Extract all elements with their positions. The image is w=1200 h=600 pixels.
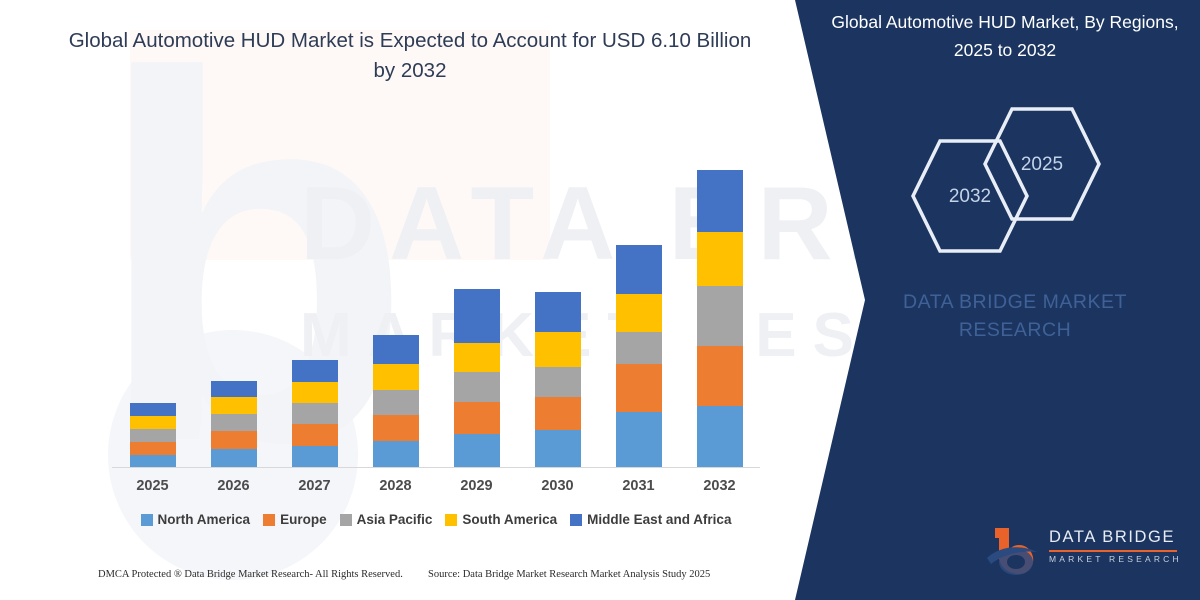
- bar-2026[interactable]: [211, 381, 257, 468]
- x-tick-2031: 2031: [599, 478, 679, 494]
- x-tick-2029: 2029: [437, 478, 517, 494]
- logo-name-sub: MARKET RESEARCH: [1049, 554, 1182, 564]
- segment-middle-east-and-africa-2028[interactable]: [373, 335, 419, 364]
- bar-2030[interactable]: [535, 292, 581, 468]
- segment-europe-2025[interactable]: [130, 442, 176, 455]
- segment-asia-pacific-2025[interactable]: [130, 429, 176, 442]
- segment-europe-2032[interactable]: [697, 346, 743, 406]
- segment-asia-pacific-2027[interactable]: [292, 403, 338, 424]
- segment-south-america-2030[interactable]: [535, 332, 581, 367]
- segment-europe-2028[interactable]: [373, 415, 419, 441]
- bar-2031[interactable]: [616, 245, 662, 468]
- bar-2029[interactable]: [454, 289, 500, 468]
- segment-north-america-2032[interactable]: [697, 406, 743, 468]
- segment-north-america-2028[interactable]: [373, 441, 419, 468]
- legend-label: North America: [158, 512, 251, 527]
- segment-south-america-2026[interactable]: [211, 397, 257, 414]
- legend-swatch-icon: [263, 514, 275, 526]
- logo-divider: [1049, 550, 1177, 552]
- logo-b-mark-icon: [985, 524, 1045, 580]
- right-info-panel: Global Automotive HUD Market, By Regions…: [760, 0, 1200, 600]
- segment-north-america-2029[interactable]: [454, 434, 500, 468]
- right-panel-title: Global Automotive HUD Market, By Regions…: [830, 8, 1180, 64]
- x-tick-2028: 2028: [356, 478, 436, 494]
- hexagon-group: 2025 2032: [910, 110, 1110, 230]
- legend-item-europe[interactable]: Europe: [263, 512, 327, 527]
- footer-copyright: DMCA Protected ® Data Bridge Market Rese…: [98, 569, 403, 580]
- segment-north-america-2031[interactable]: [616, 412, 662, 468]
- bar-2028[interactable]: [373, 335, 419, 468]
- segment-europe-2029[interactable]: [454, 402, 500, 434]
- x-axis-tick-labels: 20252026202720282029203020312032: [112, 476, 760, 502]
- hexagon-label-2025: 2025: [982, 154, 1102, 176]
- logo-name-main: DATA BRIDGE: [1049, 528, 1175, 547]
- page-title: Global Automotive HUD Market is Expected…: [60, 26, 760, 86]
- bar-2032[interactable]: [697, 170, 743, 468]
- segment-middle-east-and-africa-2025[interactable]: [130, 403, 176, 416]
- chart-panel: Global Automotive HUD Market is Expected…: [0, 0, 800, 600]
- brand-watermark-text: DATA BRIDGE MARKET RESEARCH: [870, 288, 1160, 344]
- legend-swatch-icon: [445, 514, 457, 526]
- segment-europe-2027[interactable]: [292, 424, 338, 446]
- segment-south-america-2032[interactable]: [697, 232, 743, 286]
- segment-middle-east-and-africa-2032[interactable]: [697, 170, 743, 232]
- x-axis-line: [112, 467, 760, 468]
- stacked-bar-plot: [112, 130, 760, 468]
- segment-north-america-2027[interactable]: [292, 446, 338, 468]
- hexagon-label-2032: 2032: [910, 186, 1030, 208]
- x-tick-2027: 2027: [275, 478, 355, 494]
- x-tick-2026: 2026: [194, 478, 274, 494]
- x-tick-2025: 2025: [113, 478, 193, 494]
- x-tick-2032: 2032: [680, 478, 760, 494]
- bar-2027[interactable]: [292, 360, 338, 468]
- chart-legend: North AmericaEuropeAsia PacificSouth Ame…: [112, 512, 760, 527]
- segment-middle-east-and-africa-2027[interactable]: [292, 360, 338, 382]
- segment-south-america-2031[interactable]: [616, 294, 662, 332]
- segment-middle-east-and-africa-2029[interactable]: [454, 289, 500, 343]
- data-bridge-logo: DATA BRIDGE MARKET RESEARCH: [985, 520, 1185, 582]
- segment-north-america-2026[interactable]: [211, 449, 257, 468]
- segment-middle-east-and-africa-2030[interactable]: [535, 292, 581, 332]
- segment-middle-east-and-africa-2031[interactable]: [616, 245, 662, 294]
- legend-swatch-icon: [340, 514, 352, 526]
- legend-swatch-icon: [141, 514, 153, 526]
- segment-south-america-2028[interactable]: [373, 364, 419, 390]
- segment-europe-2031[interactable]: [616, 364, 662, 412]
- legend-swatch-icon: [570, 514, 582, 526]
- footer-source: Source: Data Bridge Market Research Mark…: [428, 569, 710, 580]
- segment-north-america-2030[interactable]: [535, 430, 581, 468]
- legend-item-asia-pacific[interactable]: Asia Pacific: [340, 512, 433, 527]
- segment-asia-pacific-2031[interactable]: [616, 332, 662, 364]
- x-tick-2030: 2030: [518, 478, 598, 494]
- segment-europe-2030[interactable]: [535, 397, 581, 430]
- legend-label: South America: [462, 512, 557, 527]
- segment-asia-pacific-2028[interactable]: [373, 390, 419, 415]
- legend-item-north-america[interactable]: North America: [141, 512, 251, 527]
- segment-asia-pacific-2026[interactable]: [211, 414, 257, 431]
- segment-south-america-2027[interactable]: [292, 382, 338, 403]
- segment-south-america-2029[interactable]: [454, 343, 500, 372]
- segment-south-america-2025[interactable]: [130, 416, 176, 429]
- legend-label: Asia Pacific: [357, 512, 433, 527]
- segment-asia-pacific-2029[interactable]: [454, 372, 500, 402]
- segment-asia-pacific-2030[interactable]: [535, 367, 581, 397]
- segment-asia-pacific-2032[interactable]: [697, 286, 743, 346]
- legend-item-south-america[interactable]: South America: [445, 512, 557, 527]
- legend-label: Middle East and Africa: [587, 512, 731, 527]
- legend-label: Europe: [280, 512, 327, 527]
- bar-2025[interactable]: [130, 403, 176, 468]
- legend-item-middle-east-and-africa[interactable]: Middle East and Africa: [570, 512, 731, 527]
- segment-europe-2026[interactable]: [211, 431, 257, 449]
- segment-middle-east-and-africa-2026[interactable]: [211, 381, 257, 397]
